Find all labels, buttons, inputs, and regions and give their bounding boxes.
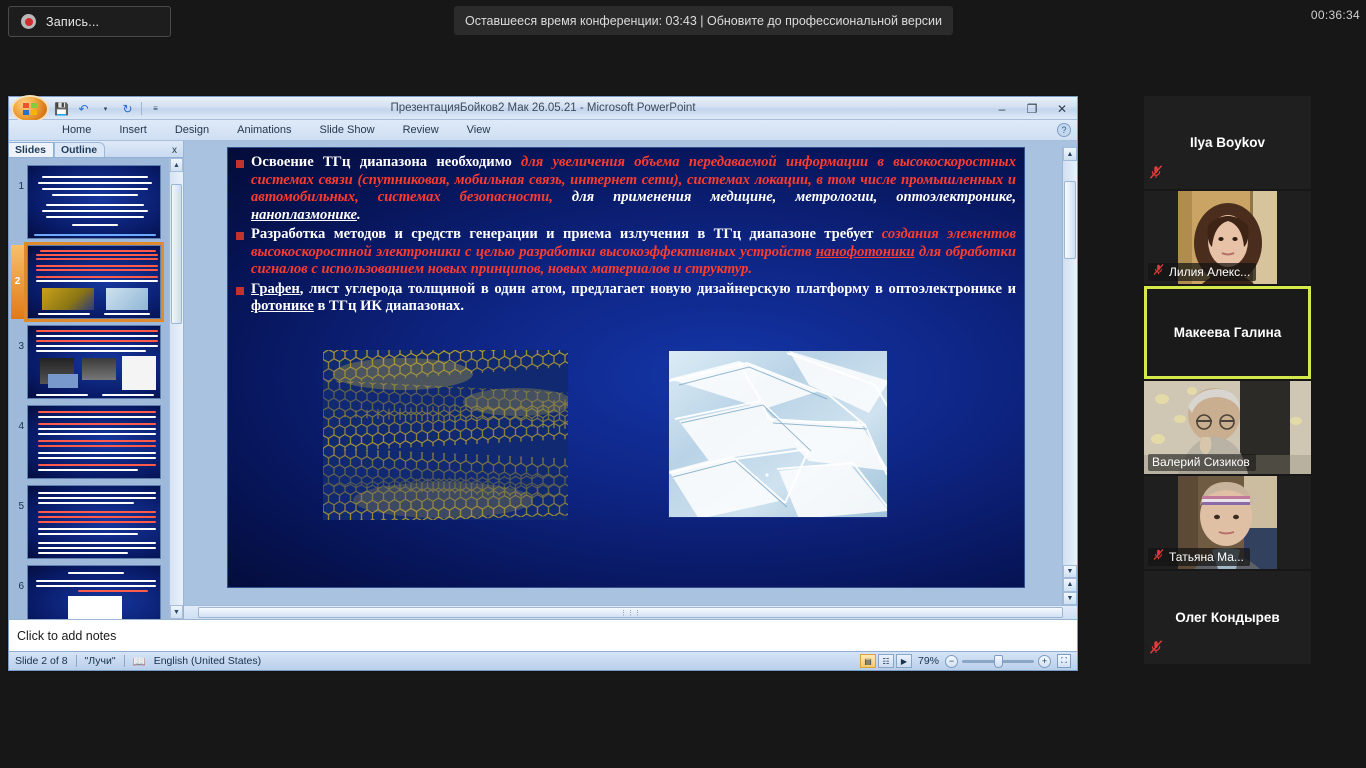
window-controls: – ❐ ✕ (991, 97, 1073, 120)
mic-off-icon (1152, 548, 1165, 563)
slide-wrapper: Освоение ТГц диапазона необходимо для ув… (190, 147, 1062, 605)
thumbnail-number: 5 (11, 485, 24, 512)
conference-banner-text: Оставшееся время конференции: 03:43 | Об… (465, 14, 942, 28)
scroll-down-icon[interactable]: ▼ (1063, 565, 1077, 578)
participant-tile[interactable]: Ilya Boykov (1144, 96, 1311, 189)
participant-label: Лилия Алекс... (1148, 263, 1256, 281)
zoom-level: 79% (918, 655, 939, 667)
tab-home[interactable]: Home (57, 123, 96, 137)
recording-label: Запись... (46, 15, 99, 29)
title-bar: 💾 ↶ ▾ ↻ ≡ ПрезентацияБойков2 Мак 26.05.2… (9, 97, 1077, 120)
participant-name: Макеева Галина (1174, 325, 1282, 340)
customize-qat-icon[interactable]: ≡ (147, 100, 164, 117)
tab-insert[interactable]: Insert (114, 123, 152, 137)
language-indicator[interactable]: English (United States) (154, 655, 261, 667)
tab-review[interactable]: Review (398, 123, 444, 137)
slide-bullet[interactable]: Разработка методов и средств генерации и… (236, 226, 1016, 279)
participant-tile[interactable]: Олег Кондырев (1144, 571, 1311, 664)
thumbnail-item[interactable]: 6 (9, 562, 183, 619)
thumbnail-number: 2 (11, 245, 24, 319)
theme-name[interactable]: "Лучи" (85, 655, 116, 667)
mic-off-icon (1148, 164, 1164, 185)
status-bar: Slide 2 of 8 "Лучи" 📖 English (United St… (9, 651, 1077, 670)
slide-canvas-area: Освоение ТГц диапазона необходимо для ув… (184, 141, 1077, 605)
slide-horizontal-scrollbar[interactable]: ⋮⋮⋮ (184, 605, 1077, 619)
thumbnail-item[interactable]: 5 (9, 482, 183, 562)
bullet-1-text: Освоение ТГц диапазона необходимо для ув… (251, 154, 1016, 224)
powerpoint-window: 💾 ↶ ▾ ↻ ≡ ПрезентацияБойков2 Мак 26.05.2… (8, 96, 1078, 671)
thumbnail-item[interactable]: 1 (9, 162, 183, 242)
close-button[interactable]: ✕ (1051, 101, 1073, 117)
thumbnail-number: 3 (11, 325, 24, 352)
participant-label: Татьяна Ма... (1148, 548, 1250, 566)
tab-slide-show[interactable]: Slide Show (315, 123, 380, 137)
slide-counter: Slide 2 of 8 (15, 655, 68, 667)
slide-sorter-view-button[interactable]: ☷ (878, 654, 894, 668)
scrollbar-thumb[interactable] (1064, 181, 1076, 259)
normal-view-button[interactable]: ▤ (860, 654, 876, 668)
office-orb-icon[interactable] (11, 95, 49, 123)
scroll-up-icon[interactable]: ▲ (1063, 147, 1077, 161)
zoom-track[interactable] (962, 660, 1034, 663)
thumbnail-scrollbar[interactable]: ▲ ▼ (169, 158, 183, 619)
close-pane-icon[interactable]: x (172, 145, 177, 156)
participant-tile[interactable]: Лилия Алекс... (1144, 191, 1311, 284)
thumbnail-preview[interactable] (27, 565, 161, 619)
thumbnail-preview[interactable] (27, 485, 161, 559)
previous-slide-icon[interactable]: ▲ (1063, 578, 1077, 591)
bullet-2-text: Разработка методов и средств генерации и… (251, 226, 1016, 279)
redo-icon[interactable]: ↻ (119, 100, 136, 117)
slide-vertical-scrollbar[interactable]: ▲ ▼ ▲ ▼ (1062, 147, 1077, 605)
conference-time-banner[interactable]: Оставшееся время конференции: 03:43 | Об… (454, 6, 953, 35)
participant-name: Олег Кондырев (1175, 610, 1279, 625)
spellcheck-icon[interactable]: 📖 (133, 655, 146, 668)
qat-separator (141, 102, 142, 115)
scrollbar-track[interactable] (1063, 161, 1077, 565)
bullet-3-text: Графен, лист углерода толщиной в один ат… (251, 281, 1016, 316)
slide-bullet[interactable]: Графен, лист углерода толщиной в один ат… (236, 281, 1016, 316)
undo-icon[interactable]: ↶ (75, 100, 92, 117)
thumbnail-item[interactable]: 3 (9, 322, 183, 402)
scroll-up-icon[interactable]: ▲ (170, 158, 183, 172)
graphene-layers-sem-image[interactable] (668, 350, 888, 518)
thumbnail-number: 4 (11, 405, 24, 432)
thumbnail-number: 1 (11, 165, 24, 192)
thumbnail-preview[interactable] (27, 325, 161, 399)
tab-design[interactable]: Design (170, 123, 214, 137)
bullet-square-icon (236, 160, 244, 168)
save-icon[interactable]: 💾 (53, 100, 70, 117)
participant-strip: Ilya Boykov (1144, 96, 1311, 666)
recording-indicator[interactable]: Запись... (8, 6, 171, 37)
slide-editor-pane: Освоение ТГц диапазона необходимо для ув… (184, 141, 1077, 619)
thumbnail-item[interactable]: 4 (9, 402, 183, 482)
scroll-down-icon[interactable]: ▼ (170, 605, 183, 619)
status-separator (76, 655, 77, 667)
graphene-lattice-image[interactable] (323, 350, 568, 520)
participant-label: Валерий Сизиков (1148, 454, 1256, 471)
slide-canvas[interactable]: Освоение ТГц диапазона необходимо для ув… (227, 147, 1025, 588)
participant-name: Лилия Алекс... (1169, 265, 1250, 279)
status-separator (124, 655, 125, 667)
thumbnail-preview[interactable] (27, 165, 161, 239)
mic-off-icon (1148, 639, 1164, 660)
help-icon[interactable]: ? (1057, 123, 1071, 137)
slides-pane: Slides Outline x 1 (9, 141, 184, 619)
thumbnail-preview[interactable] (27, 245, 161, 319)
zoom-knob[interactable] (994, 655, 1003, 668)
bullet-square-icon (236, 287, 244, 295)
mic-off-icon (1152, 263, 1165, 278)
undo-dropdown-icon[interactable]: ▾ (97, 100, 114, 117)
quick-access-toolbar: 💾 ↶ ▾ ↻ ≡ (53, 100, 164, 117)
tab-slides[interactable]: Slides (9, 142, 54, 157)
zoom-slider[interactable]: − + (945, 655, 1051, 668)
thumbnail-number: 6 (11, 565, 24, 592)
thumbnail-preview[interactable] (27, 405, 161, 479)
record-dot-icon (21, 14, 36, 29)
bullet-square-icon (236, 232, 244, 240)
zoom-in-button[interactable]: + (1038, 655, 1051, 668)
slide-show-view-button[interactable]: ▶ (896, 654, 912, 668)
tab-animations[interactable]: Animations (232, 123, 296, 137)
restore-button[interactable]: ❐ (1021, 101, 1043, 117)
minimize-button[interactable]: – (991, 101, 1013, 117)
participant-name: Ilya Boykov (1190, 135, 1265, 150)
participant-name: Валерий Сизиков (1152, 455, 1250, 469)
view-buttons: ▤ ☷ ▶ (860, 654, 912, 668)
ribbon-tabs: Home Insert Design Animations Slide Show… (9, 120, 1077, 141)
notes-pane[interactable]: Click to add notes (9, 619, 1077, 651)
zoom-out-button[interactable]: − (945, 655, 958, 668)
participant-tile[interactable]: Татьяна Ма... (1144, 476, 1311, 569)
slides-outline-tabs: Slides Outline x (9, 141, 183, 158)
next-slide-icon[interactable]: ▼ (1063, 592, 1077, 605)
notes-placeholder: Click to add notes (17, 629, 116, 643)
window-title: ПрезентацияБойков2 Мак 26.05.21 - Micros… (9, 97, 1077, 120)
tab-view[interactable]: View (462, 123, 496, 137)
status-right-group: ▤ ☷ ▶ 79% − + ⛶ (860, 654, 1071, 668)
participant-tile-active-speaker[interactable]: Макеева Галина (1144, 286, 1311, 379)
participant-tile[interactable]: Валерий Сизиков (1144, 381, 1311, 474)
scrollbar-thumb[interactable]: ⋮⋮⋮ (198, 607, 1063, 618)
fit-slide-icon[interactable]: ⛶ (1057, 654, 1071, 668)
thumbnail-list[interactable]: 1 (9, 158, 183, 619)
participant-name: Татьяна Ма... (1169, 550, 1244, 564)
editor-body: Slides Outline x 1 (9, 141, 1077, 619)
tab-outline[interactable]: Outline (54, 142, 105, 157)
thumbnail-item[interactable]: 2 (9, 242, 183, 322)
screen: Запись... Оставшееся время конференции: … (0, 0, 1366, 768)
slide-bullet[interactable]: Освоение ТГц диапазона необходимо для ув… (236, 154, 1016, 224)
scrollbar-thumb[interactable] (171, 184, 182, 324)
clock: 00:36:34 (1311, 8, 1360, 22)
